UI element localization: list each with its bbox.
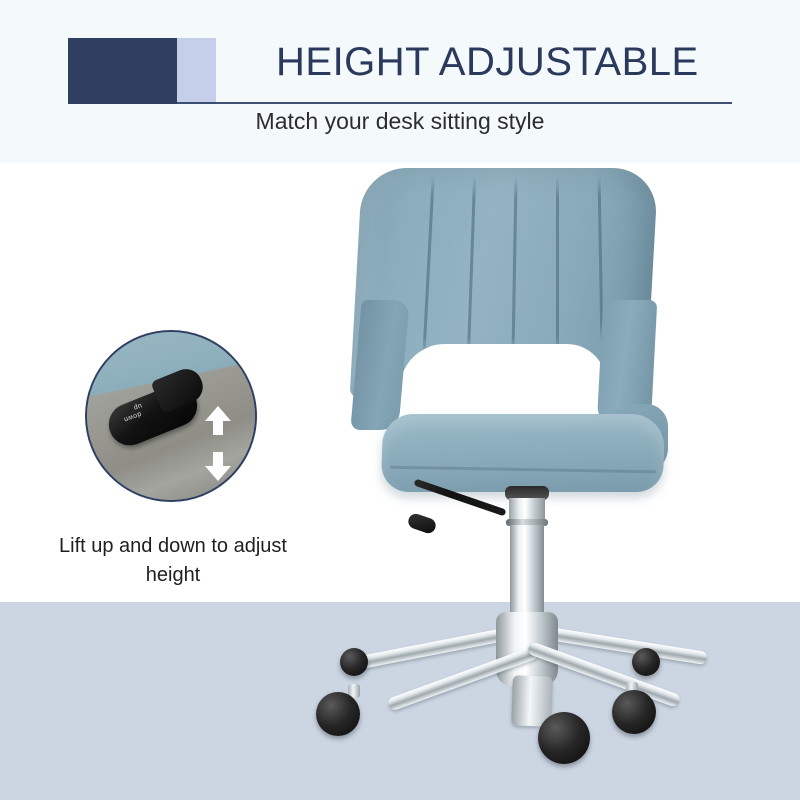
caster-wheel — [538, 712, 590, 764]
gas-cylinder-lower — [510, 525, 544, 623]
product-feature-image: HEIGHT ADJUSTABLE Match your desk sittin… — [0, 0, 800, 800]
detail-magnifier-circle: up down — [85, 330, 257, 502]
caster-wheel — [316, 692, 360, 736]
gas-cylinder-upper — [509, 498, 545, 520]
caster-wheel — [632, 648, 660, 676]
caster-wheel — [340, 648, 368, 676]
detail-caption: Lift up and down to adjust height — [48, 532, 298, 590]
caster-wheel — [612, 690, 656, 734]
backrest-channel-seam — [556, 176, 559, 358]
height-adjust-lever-knob[interactable] — [406, 512, 437, 535]
